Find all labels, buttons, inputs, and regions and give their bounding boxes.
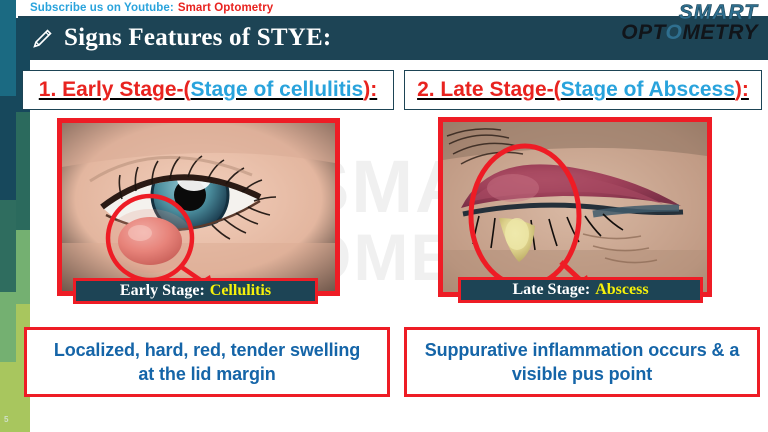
rail-segment-4	[0, 292, 16, 362]
description-late-line-1: Suppurative inflammation occurs & a	[425, 338, 740, 362]
caption-early-value: Cellulitis	[210, 282, 271, 300]
eyelid-abscess-illustration	[443, 122, 707, 292]
eye-cellulitis-illustration	[62, 123, 335, 291]
pencil-icon	[30, 25, 56, 51]
stage-heading-late-text: 2. Late Stage-(Stage of Abscess):	[417, 78, 749, 102]
stage-heading-late-tail: ):	[735, 78, 749, 101]
slide-canvas: SMA OME 5 Subscribe us on Youtube: Smart…	[0, 0, 768, 432]
photo-late-stage	[438, 117, 712, 297]
photo-early-stage	[57, 118, 340, 296]
rail-segment-3	[0, 200, 16, 292]
stage-heading-early: 1. Early Stage-(Stage of cellulitis):	[22, 70, 394, 110]
rail-inner-segment-2	[16, 112, 30, 230]
description-early-line-1: Localized, hard, red, tender swelling	[54, 338, 360, 362]
page-number: 5	[4, 415, 9, 424]
stage-heading-late-red: 2. Late Stage-(	[417, 78, 561, 101]
description-early-line-2: at the lid margin	[138, 362, 275, 386]
rail-inner-segment-3	[16, 230, 30, 304]
caption-early-label: Early Stage:	[120, 282, 205, 300]
stage-heading-late-cyan: Stage of Abscess	[561, 78, 735, 101]
caption-early-stage: Early Stage: Cellulitis	[73, 278, 318, 304]
rail-segment-1	[0, 0, 16, 96]
page-title: Signs Features of STYE:	[64, 24, 331, 52]
description-late-line-2: visible pus point	[512, 362, 652, 386]
stage-heading-early-tail: ):	[363, 78, 377, 101]
stage-heading-early-red: 1. Early Stage-(	[39, 78, 191, 101]
left-color-rail-outer	[0, 0, 16, 432]
caption-late-label: Late Stage:	[512, 281, 590, 299]
stage-heading-early-cyan: Stage of cellulitis	[191, 78, 364, 101]
photo-early-inner	[62, 123, 335, 291]
subscribe-brand: Smart Optometry	[178, 2, 273, 14]
subscribe-prefix: Subscribe us on Youtube:	[30, 2, 174, 14]
photo-late-inner	[443, 122, 707, 292]
rail-segment-2	[0, 96, 16, 200]
caption-late-value: Abscess	[595, 281, 648, 299]
stage-heading-late: 2. Late Stage-(Stage of Abscess):	[404, 70, 762, 110]
stage-heading-early-text: 1. Early Stage-(Stage of cellulitis):	[39, 78, 377, 102]
description-early-stage: Localized, hard, red, tender swelling at…	[24, 327, 390, 397]
description-late-stage: Suppurative inflammation occurs & a visi…	[404, 327, 760, 397]
caption-late-stage: Late Stage: Abscess	[458, 277, 703, 303]
subscribe-bar: Subscribe us on Youtube: Smart Optometry	[30, 0, 370, 16]
header-banner: Signs Features of STYE:	[18, 16, 768, 60]
